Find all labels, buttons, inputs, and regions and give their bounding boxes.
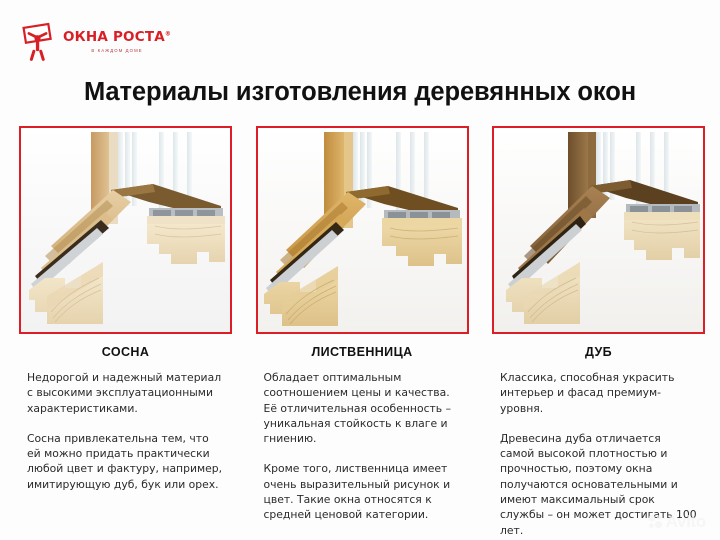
pine-window-profile-cutaway-photo: [19, 126, 232, 334]
man-holding-window-frame-icon: [19, 22, 61, 62]
material-paragraph: Обладает оптимальным соотношением цены и…: [264, 370, 462, 446]
material-description: Обладает оптимальным соотношением цены и…: [256, 370, 469, 523]
brand-wordmark: ОКНА РОСТА® В КАЖДОМ ДОМЕ: [63, 31, 171, 53]
brand-logo: ОКНА РОСТА® В КАЖДОМ ДОМЕ: [19, 21, 131, 63]
brand-name: ОКНА РОСТА®: [63, 31, 171, 45]
material-paragraph: Классика, способная украсить интерьер и …: [500, 370, 698, 416]
material-heading: ДУБ: [492, 345, 705, 359]
materials-columns: СОСНА Недорогой и надежный материал с вы…: [19, 126, 705, 538]
material-column-larch: ЛИСТВЕННИЦА Обладает оптимальным соотнош…: [256, 126, 469, 538]
material-paragraph: Кроме того, лиственница имеет очень выра…: [264, 461, 462, 522]
material-heading: ЛИСТВЕННИЦА: [256, 345, 469, 359]
material-column-oak: ДУБ Классика, способная украсить интерье…: [492, 126, 705, 538]
avito-wordmark: Avito: [666, 513, 706, 530]
oak-window-profile-cutaway-photo: [492, 126, 705, 334]
material-column-pine: СОСНА Недорогой и надежный материал с вы…: [19, 126, 232, 538]
trademark-symbol: ®: [165, 31, 171, 38]
avito-dots-icon: [648, 514, 663, 529]
brand-tagline: В КАЖДОМ ДОМЕ: [63, 48, 171, 53]
material-paragraph: Недорогой и надежный материал с высокими…: [27, 370, 225, 416]
material-description: Недорогой и надежный материал с высокими…: [19, 370, 232, 492]
material-heading: СОСНА: [19, 345, 232, 359]
avito-watermark: Avito: [648, 513, 706, 530]
material-paragraph: Сосна привлекательна тем, что ей можно п…: [27, 431, 225, 492]
larch-window-profile-cutaway-photo: [256, 126, 469, 334]
page-title: Материалы изготовления деревянных окон: [0, 78, 720, 107]
